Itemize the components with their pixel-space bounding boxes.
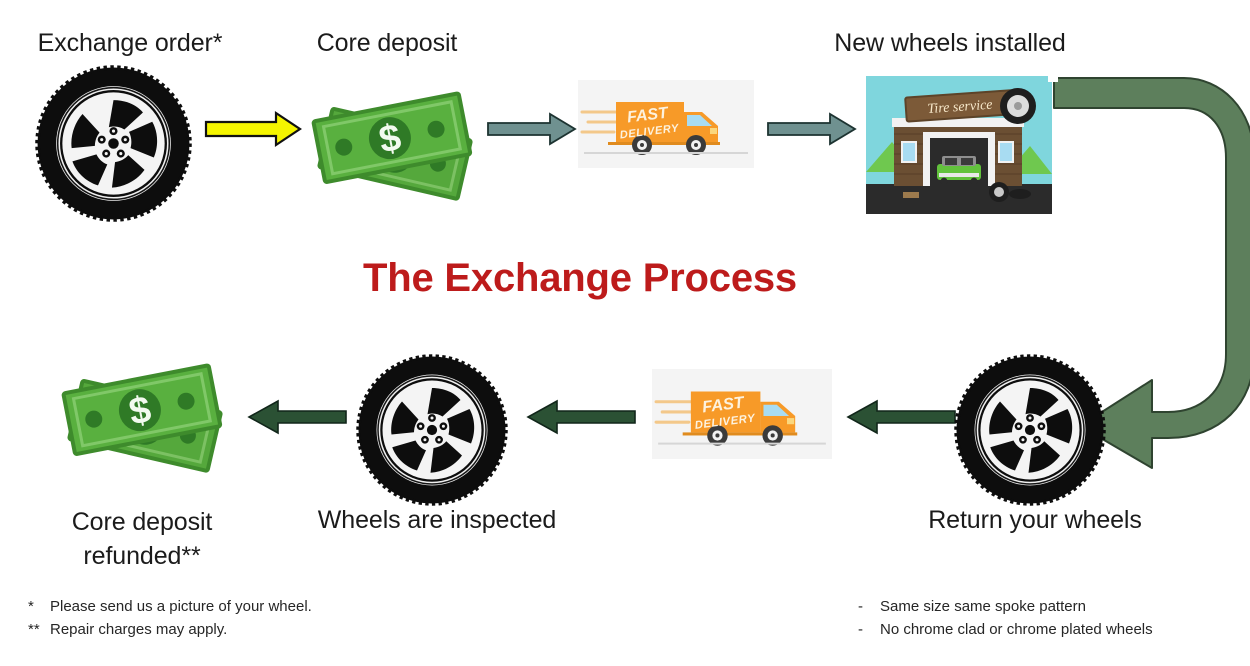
delivery-truck-icon-outbound: FAST DELIVERY bbox=[578, 80, 754, 168]
footnote-left-1: *Please send us a picture of your wheel. bbox=[28, 595, 312, 618]
money-icon-refund: $ $ bbox=[56, 348, 236, 476]
label-exchange-order: Exchange order* bbox=[0, 28, 260, 59]
arrow-deposit-to-truck bbox=[486, 112, 578, 146]
footnote-right-2-mark: - bbox=[858, 618, 880, 641]
footnote-left-2: **Repair charges may apply. bbox=[28, 618, 312, 641]
label-wheels-are-inspected: Wheels are inspected bbox=[292, 505, 582, 536]
delivery-truck-icon-return: FAST DELIVERY bbox=[652, 368, 832, 460]
footnote-right-1: -Same size same spoke pattern bbox=[858, 595, 1153, 618]
label-new-wheels-installed: New wheels installed bbox=[790, 28, 1110, 59]
footnotes-right: -Same size same spoke pattern -No chrome… bbox=[858, 595, 1153, 641]
tire-service-shop-icon: Tire service bbox=[866, 76, 1052, 214]
footnote-left-1-text: Please send us a picture of your wheel. bbox=[50, 598, 312, 615]
wheel-icon-exchange-order bbox=[36, 66, 191, 221]
footnote-left-2-mark: ** bbox=[28, 618, 50, 641]
arrow-inspect-to-refund bbox=[246, 398, 348, 436]
label-return-your-wheels: Return your wheels bbox=[890, 505, 1180, 536]
arrow-truck-to-shop bbox=[766, 112, 858, 146]
arrow-truck-to-inspect bbox=[525, 398, 637, 436]
wheel-icon-return bbox=[955, 355, 1105, 505]
label-core-deposit: Core deposit bbox=[262, 28, 512, 59]
wheel-icon-inspected bbox=[357, 355, 507, 505]
label-core-deposit-refunded: Core deposit refunded** bbox=[28, 505, 256, 573]
footnote-right-1-text: Same size same spoke pattern bbox=[880, 598, 1086, 615]
footnote-left-2-text: Repair charges may apply. bbox=[50, 621, 227, 638]
arrow-return-to-truck bbox=[845, 398, 957, 436]
footnote-left-1-mark: * bbox=[28, 595, 50, 618]
footnote-right-2: -No chrome clad or chrome plated wheels bbox=[858, 618, 1153, 641]
arrow-order-to-deposit bbox=[204, 110, 304, 148]
page-title: The Exchange Process bbox=[0, 256, 1160, 301]
footnotes-left: *Please send us a picture of your wheel.… bbox=[28, 595, 312, 641]
exchange-process-diagram: Exchange order* Core deposit New wheels … bbox=[0, 0, 1250, 666]
footnote-right-2-text: No chrome clad or chrome plated wheels bbox=[880, 621, 1153, 638]
money-icon-core-deposit: $ $ bbox=[306, 76, 486, 204]
footnote-right-1-mark: - bbox=[858, 595, 880, 618]
